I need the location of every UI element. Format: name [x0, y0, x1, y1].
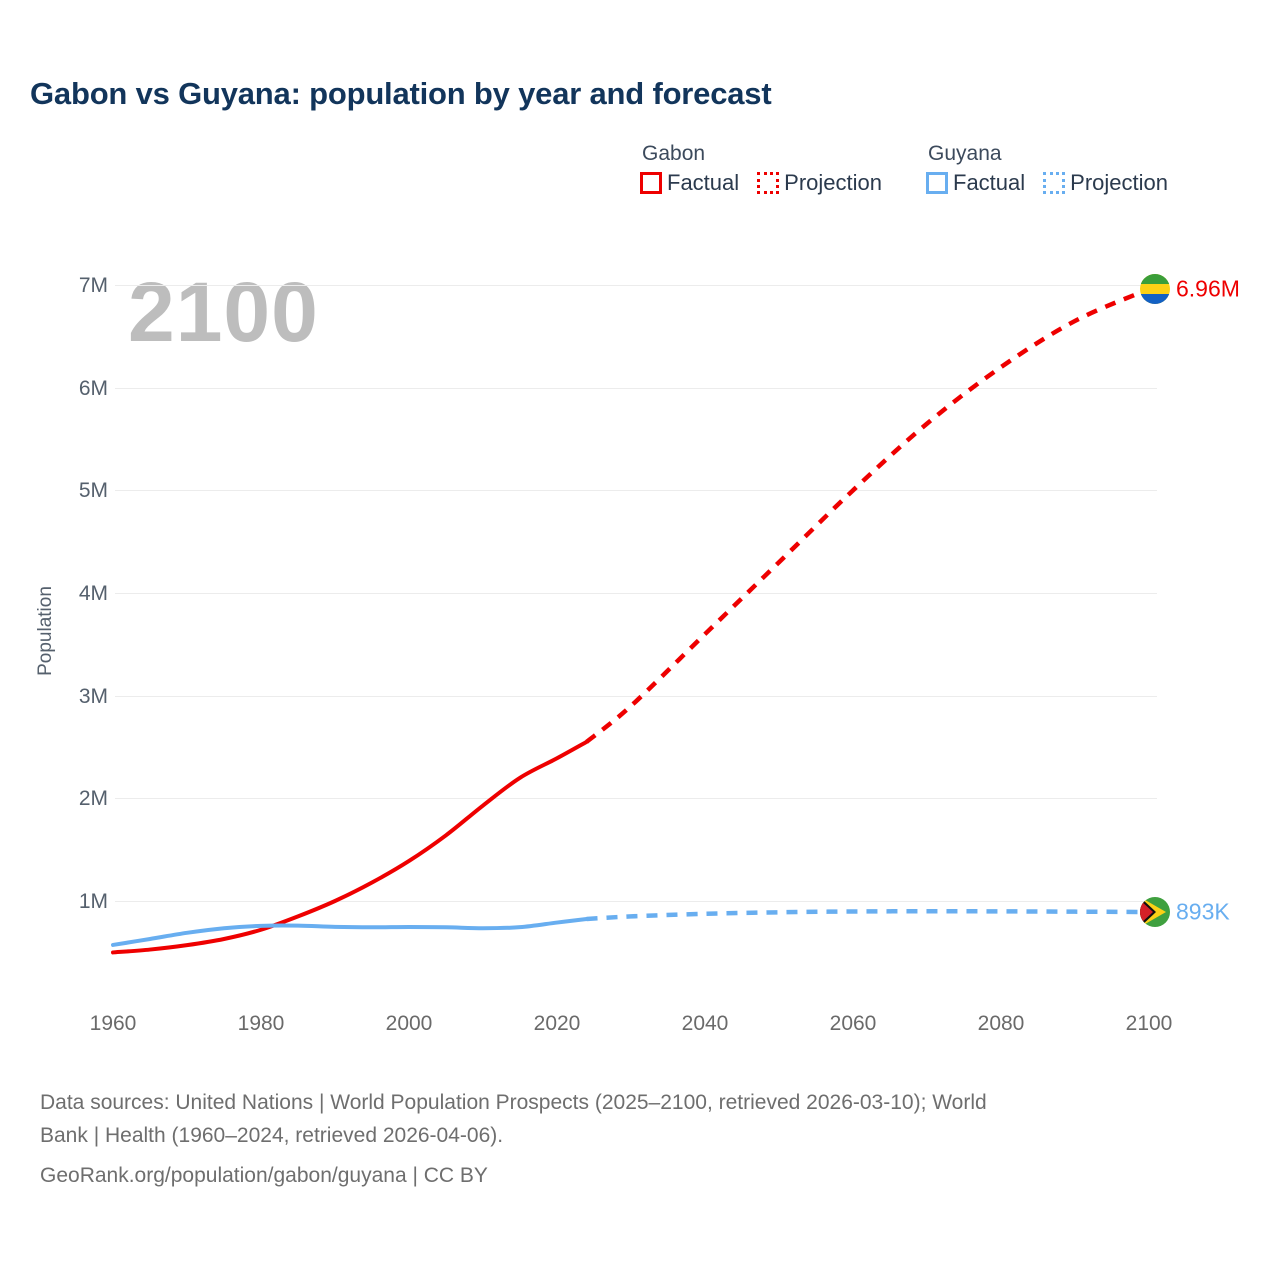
- y-axis-tick-label: 2M: [56, 787, 108, 811]
- gabon-projection-line: [587, 289, 1149, 742]
- gridline: [115, 901, 1157, 902]
- x-axis-tick-label: 1960: [90, 1012, 137, 1036]
- flag-band-green: [1140, 274, 1170, 284]
- footer-sources-line-2: Bank | Health (1960–2024, retrieved 2026…: [40, 1119, 1240, 1152]
- flag-band-blue: [1140, 294, 1170, 304]
- gridline: [115, 388, 1157, 389]
- y-axis-tick-label: 1M: [56, 890, 108, 914]
- gabon-factual-line: [113, 742, 587, 953]
- x-axis-tick-label: 1980: [238, 1012, 285, 1036]
- y-axis-label: Population: [35, 561, 57, 701]
- x-axis-tick-label: 2040: [682, 1012, 729, 1036]
- footer-sources-line-1: Data sources: United Nations | World Pop…: [40, 1086, 1240, 1119]
- x-axis-tick-label: 2060: [830, 1012, 877, 1036]
- guyana-factual-line: [113, 919, 587, 945]
- y-axis-tick-label: 6M: [56, 377, 108, 401]
- gridline: [115, 490, 1157, 491]
- chart-footer: Data sources: United Nations | World Pop…: [40, 1086, 1240, 1192]
- x-axis-tick-label: 2020: [534, 1012, 581, 1036]
- gridline: [115, 285, 1157, 286]
- gabon-flag-icon: [1140, 274, 1170, 304]
- flag-triangle-red: [1140, 900, 1153, 924]
- gridline: [115, 696, 1157, 697]
- guyana-flag-icon: [1140, 897, 1170, 927]
- gridline: [115, 798, 1157, 799]
- y-axis-tick-label: 4M: [56, 582, 108, 606]
- gridline: [115, 593, 1157, 594]
- y-axis-tick-label: 5M: [56, 479, 108, 503]
- y-axis-tick-label: 7M: [56, 274, 108, 298]
- x-axis-tick-label: 2000: [386, 1012, 433, 1036]
- chart-page: Gabon vs Guyana: population by year and …: [0, 0, 1280, 1280]
- footer-attribution: GeoRank.org/population/gabon/guyana | CC…: [40, 1159, 1240, 1192]
- y-axis-tick-label: 3M: [56, 685, 108, 709]
- guyana-projection-line: [587, 911, 1149, 919]
- guyana-endpoint-label: 893K: [1176, 898, 1230, 925]
- gabon-endpoint-label: 6.96M: [1176, 276, 1240, 303]
- year-watermark: 2100: [128, 270, 319, 354]
- x-axis-tick-label: 2100: [1126, 1012, 1173, 1036]
- x-axis-tick-label: 2080: [978, 1012, 1025, 1036]
